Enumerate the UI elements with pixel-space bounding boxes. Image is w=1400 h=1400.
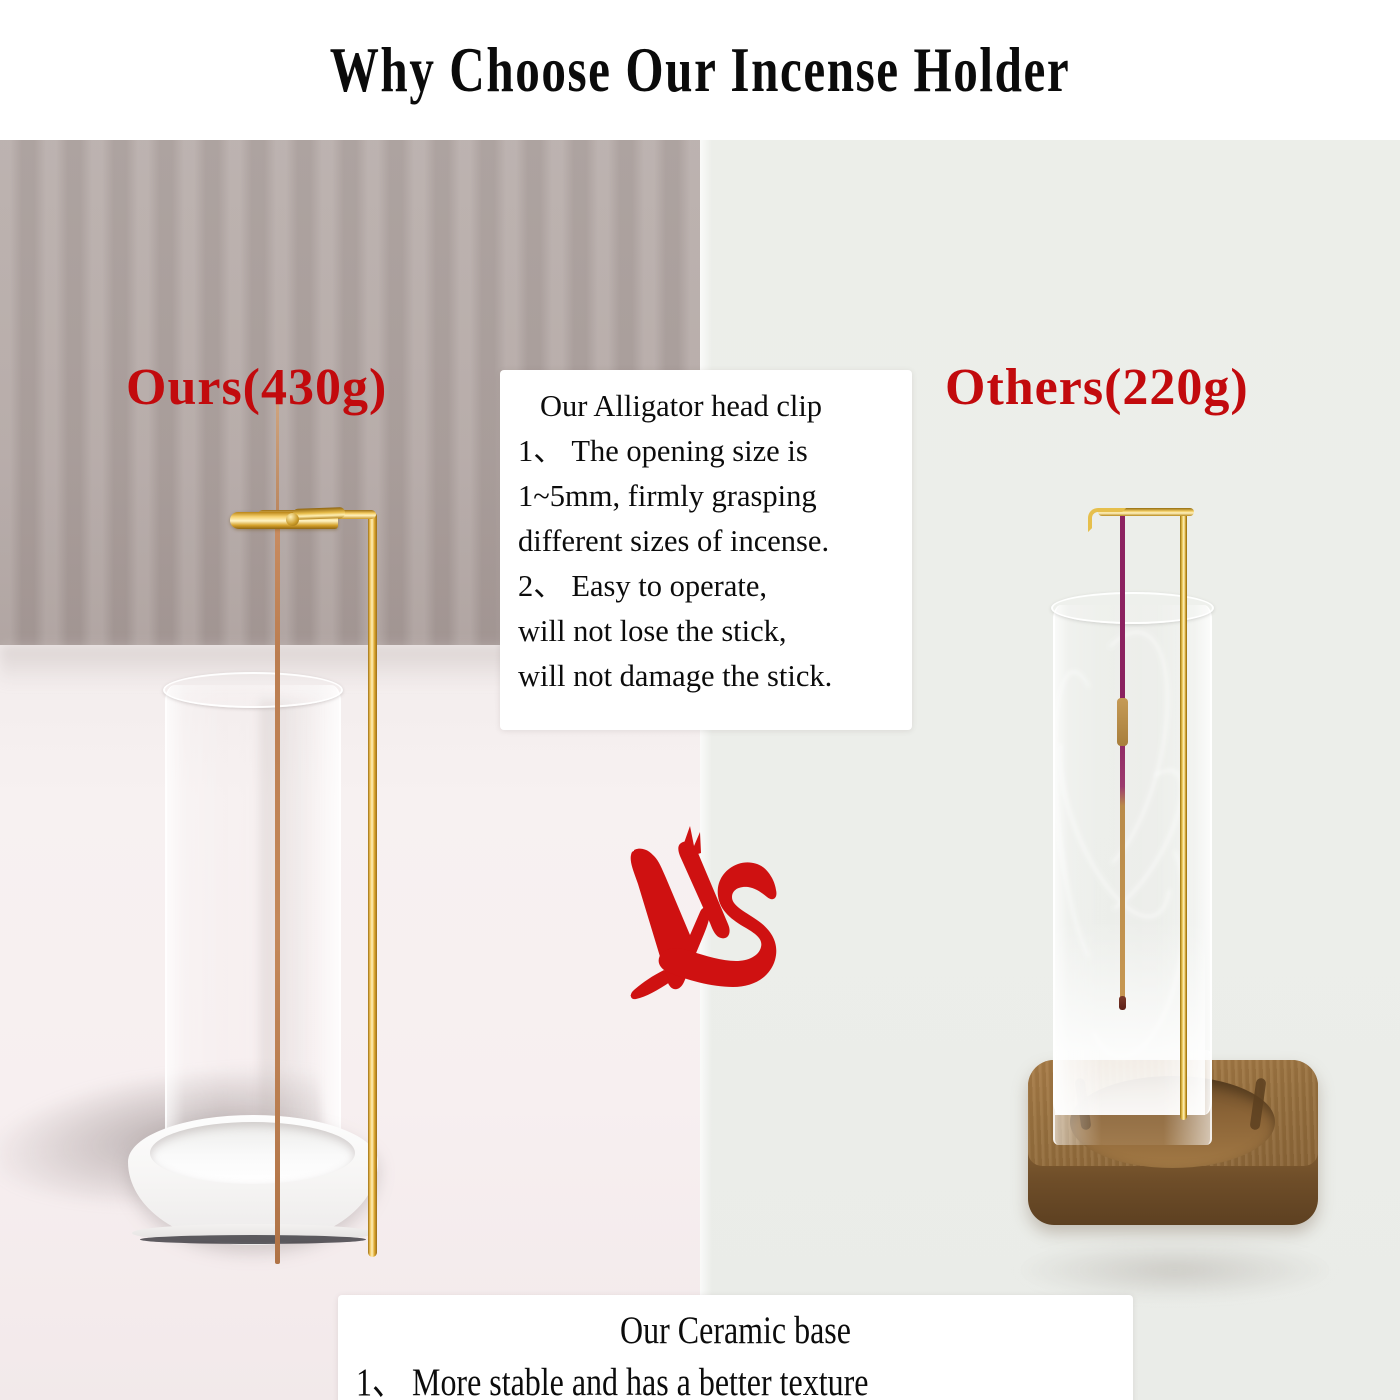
product-comparison-stage: Ours(430g) Others(220g) Our Alligator he… bbox=[0, 140, 1400, 1400]
infographic-page: Why Choose Our Incense Holder bbox=[0, 0, 1400, 1400]
others-glass-foot bbox=[1053, 1050, 1212, 1145]
feature-box-bottom-line: 1、 More stable and has a better texture bbox=[338, 1357, 990, 1400]
ours-incense-stick-tip bbox=[276, 400, 279, 525]
others-drop-shadow bbox=[1015, 1240, 1335, 1300]
ours-glass-rim bbox=[163, 672, 343, 708]
others-gold-vertical-arm bbox=[1180, 510, 1187, 1120]
feature-box-top-heading: Our Alligator head clip bbox=[518, 384, 902, 429]
page-title: Why Choose Our Incense Holder bbox=[154, 34, 1246, 107]
others-stick-grip bbox=[1117, 698, 1128, 746]
alligator-clip-jaw bbox=[293, 507, 345, 520]
feature-box-top-line: different sizes of incense. bbox=[518, 519, 902, 564]
feature-box-top-line: 1、 The opening size is bbox=[518, 429, 902, 474]
others-incense-stick bbox=[1120, 512, 1125, 1002]
alligator-clip-pivot bbox=[286, 513, 299, 526]
label-ours: Ours(430g) bbox=[126, 358, 387, 417]
feature-box-bottom-heading: Our Ceramic base bbox=[410, 1305, 1062, 1357]
ours-ceramic-base-well bbox=[150, 1122, 355, 1184]
others-gold-hook bbox=[1088, 508, 1126, 532]
feature-box-top-line: 2、 Easy to operate, bbox=[518, 564, 902, 609]
others-glass-rim bbox=[1051, 592, 1214, 624]
ceramic-base-feature-box: Our Ceramic base 1、 More stable and has … bbox=[338, 1295, 1133, 1400]
feature-box-top-line: will not lose the stick, bbox=[518, 609, 902, 654]
feature-box-top-line: will not damage the stick. bbox=[518, 654, 902, 699]
versus-mark-icon bbox=[628, 820, 778, 1035]
ours-ceramic-base-foot bbox=[140, 1235, 366, 1244]
ours-product-photo bbox=[110, 340, 440, 1340]
alligator-clip-feature-box: Our Alligator head clip 1、 The opening s… bbox=[500, 370, 912, 730]
others-product-photo bbox=[1010, 360, 1340, 1340]
ours-incense-stick bbox=[275, 522, 280, 1264]
feature-box-top-line: 1~5mm, firmly grasping bbox=[518, 474, 902, 519]
ours-gold-vertical-arm bbox=[368, 512, 377, 1257]
others-stick-ember bbox=[1119, 996, 1126, 1010]
label-others: Others(220g) bbox=[945, 358, 1249, 417]
ours-glass-shading bbox=[260, 700, 320, 1160]
